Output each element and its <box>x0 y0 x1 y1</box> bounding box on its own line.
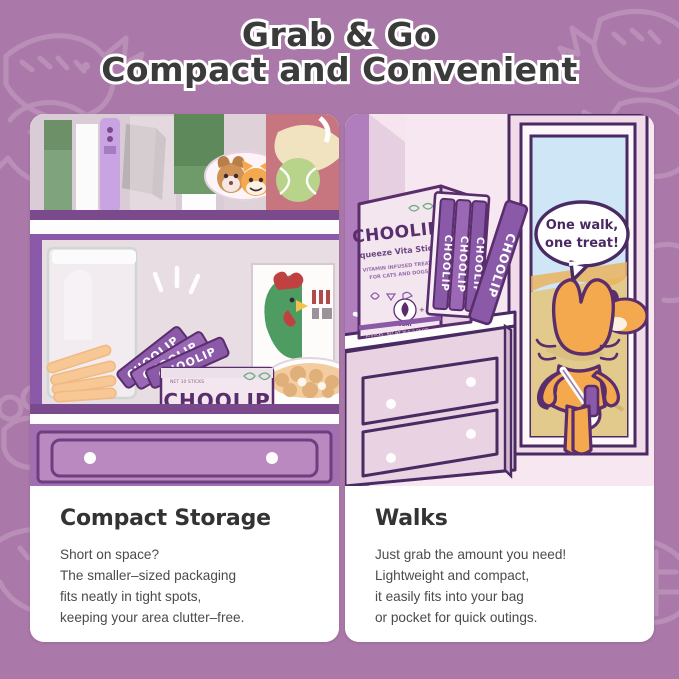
walks-illustration: One walk, one treat! <box>345 114 654 486</box>
card-title: Compact Storage <box>60 506 271 531</box>
card-walks: One walk, one treat! <box>345 114 654 642</box>
card-title: Walks <box>375 506 448 531</box>
title-line-2: Compact and Convenient <box>101 53 578 88</box>
svg-text:®: ® <box>263 394 270 402</box>
card-compact-storage: CHOOLIP CHOOLIP CHOOLIP <box>30 114 339 642</box>
svg-text:+: + <box>419 306 425 314</box>
kitchen-shelf-illustration: CHOOLIP CHOOLIP CHOOLIP <box>30 114 339 486</box>
card-body: Short on space? The smaller–sized packag… <box>60 544 325 628</box>
svg-text:One walk,: One walk, <box>546 218 618 233</box>
svg-text:one treat!: one treat! <box>545 236 619 251</box>
title-line-1: Grab & Go <box>101 18 578 53</box>
console-dresser <box>345 312 515 486</box>
drawer-knob-icon <box>84 452 96 464</box>
scene-hallway-doorway: One walk, one treat! <box>345 114 654 486</box>
textbox-walks: Walks Just grab the amount you need! Lig… <box>345 486 654 642</box>
scene-kitchen-cabinet-shelf: CHOOLIP CHOOLIP CHOOLIP <box>30 114 339 486</box>
textbox-compact-storage: Compact Storage Short on space? The smal… <box>30 486 339 642</box>
header-title: Grab & Go Compact and Convenient <box>0 18 679 88</box>
drawer-knob-icon <box>266 452 278 464</box>
infographic-canvas: Grab & Go Compact and Convenient <box>0 0 679 679</box>
svg-text:NET 10 STICKS: NET 10 STICKS <box>170 379 204 385</box>
card-body: Just grab the amount you need! Lightweig… <box>375 544 640 628</box>
